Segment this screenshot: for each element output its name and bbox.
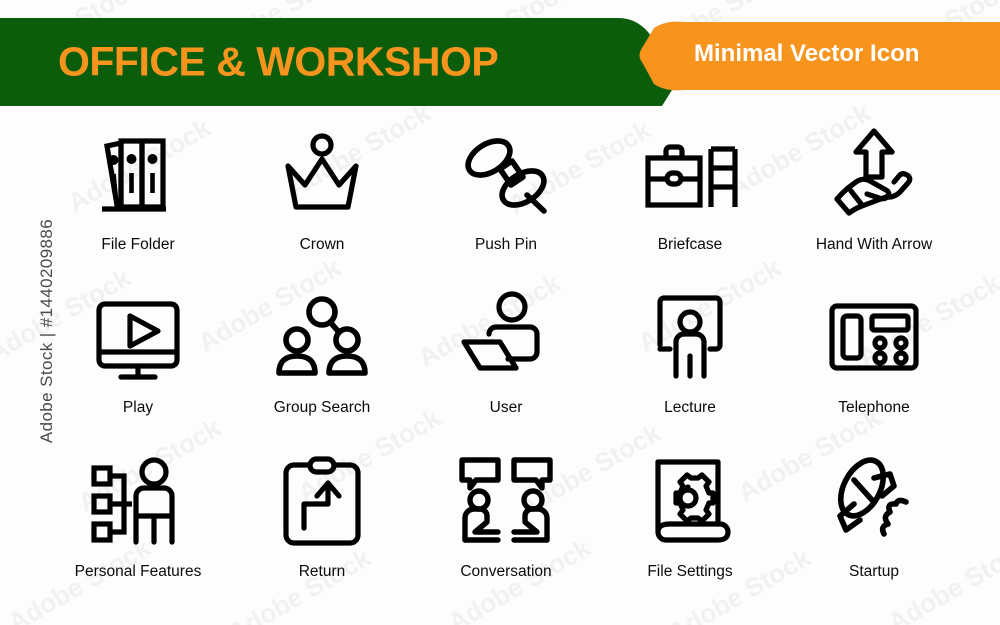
file-settings-icon[interactable]: [640, 447, 740, 557]
briefcase-icon[interactable]: [640, 120, 740, 230]
icon-caption: User: [490, 399, 523, 417]
icon-cell-crown[interactable]: Crown: [230, 120, 414, 283]
icon-cell-briefcase[interactable]: Briefcase: [598, 120, 782, 283]
file-folder-icon[interactable]: [88, 120, 188, 230]
icon-cell-startup[interactable]: Startup: [782, 447, 966, 610]
icon-cell-user[interactable]: User: [414, 283, 598, 446]
telephone-icon[interactable]: [824, 283, 924, 393]
icon-cell-file-folder[interactable]: File Folder: [46, 120, 230, 283]
banner-badge-label: Minimal Vector Icon: [694, 40, 919, 68]
icon-caption: Crown: [300, 236, 345, 254]
icon-caption: Conversation: [460, 563, 551, 581]
icon-caption: Personal Features: [75, 563, 202, 581]
icon-caption: Return: [299, 563, 346, 581]
icon-caption: Push Pin: [475, 236, 537, 254]
icon-caption: Lecture: [664, 399, 716, 417]
conversation-icon[interactable]: [456, 447, 556, 557]
icon-cell-hand-with-arrow[interactable]: Hand With Arrow: [782, 120, 966, 283]
user-laptop-icon[interactable]: [456, 283, 556, 393]
icon-cell-personal-features[interactable]: Personal Features: [46, 447, 230, 610]
play-monitor-icon[interactable]: [88, 283, 188, 393]
icon-grid: File Folder Crown: [46, 120, 966, 610]
icon-cell-push-pin[interactable]: Push Pin: [414, 120, 598, 283]
icon-cell-group-search[interactable]: Group Search: [230, 283, 414, 446]
icon-cell-lecture[interactable]: Lecture: [598, 283, 782, 446]
lecture-icon[interactable]: [640, 283, 740, 393]
personal-features-icon[interactable]: [88, 447, 188, 557]
icon-caption: Startup: [849, 563, 899, 581]
return-clipboard-icon[interactable]: [272, 447, 372, 557]
crown-icon[interactable]: [272, 120, 372, 230]
icon-caption: Telephone: [838, 399, 910, 417]
icon-caption: File Settings: [647, 563, 732, 581]
icon-cell-return[interactable]: Return: [230, 447, 414, 610]
banner-title: OFFICE & WORKSHOP: [58, 39, 498, 86]
icon-caption: Briefcase: [658, 236, 723, 254]
icon-cell-file-settings[interactable]: File Settings: [598, 447, 782, 610]
icon-caption: File Folder: [101, 236, 174, 254]
group-search-icon[interactable]: [272, 283, 372, 393]
icon-caption: Play: [123, 399, 153, 417]
icon-cell-telephone[interactable]: Telephone: [782, 283, 966, 446]
icon-caption: Hand With Arrow: [816, 236, 932, 254]
startup-rocket-icon[interactable]: [824, 447, 924, 557]
header-banner: OFFICE & WORKSHOP Minimal Vector Icon: [0, 18, 1000, 106]
push-pin-icon[interactable]: [456, 120, 556, 230]
icon-sheet-page: Adobe Stock Adobe Stock Adobe Stock Adob…: [0, 0, 1000, 625]
icon-cell-play[interactable]: Play: [46, 283, 230, 446]
icon-cell-conversation[interactable]: Conversation: [414, 447, 598, 610]
icon-caption: Group Search: [274, 399, 371, 417]
hand-with-arrow-icon[interactable]: [824, 120, 924, 230]
